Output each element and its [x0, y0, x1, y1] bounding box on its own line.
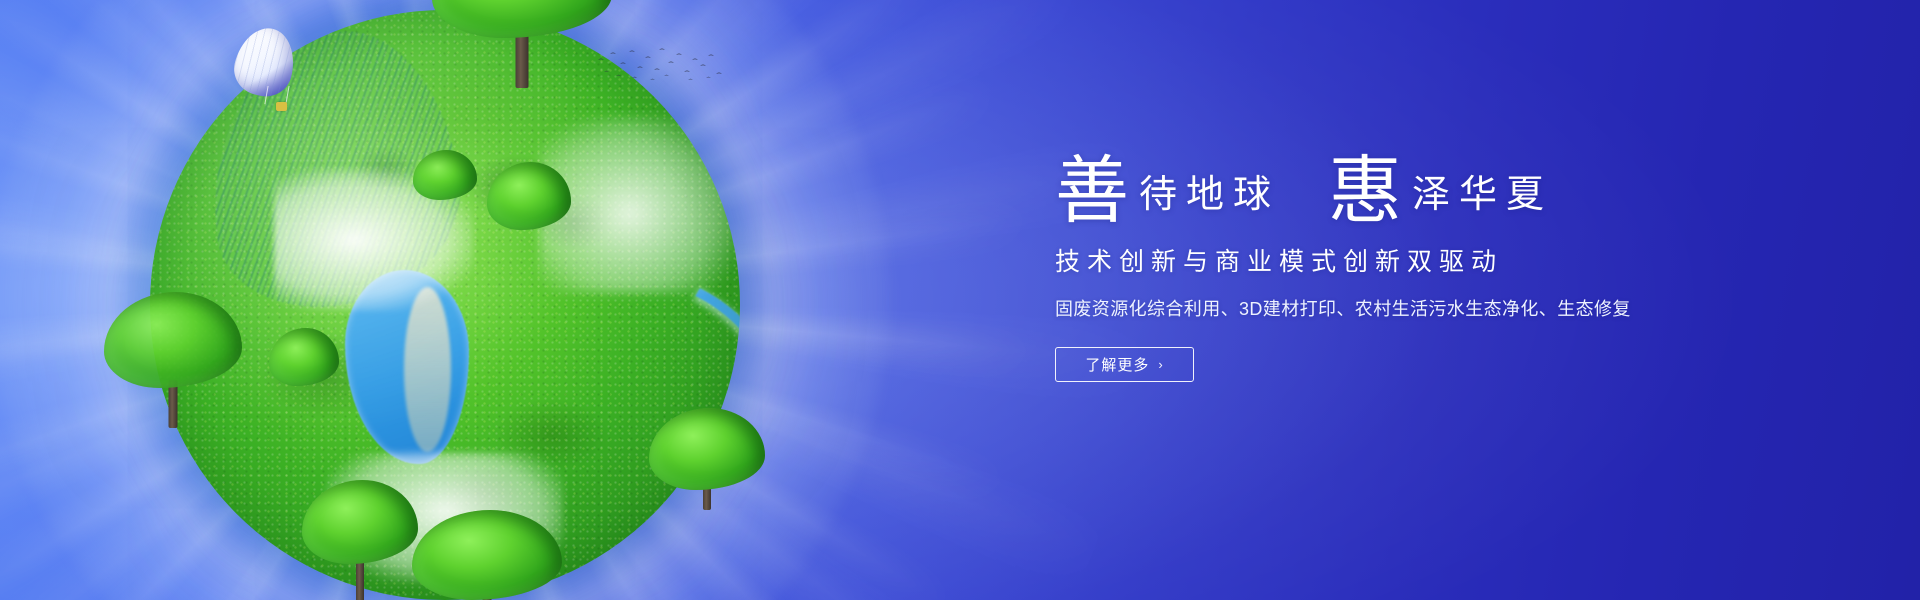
learn-more-label: 了解更多	[1085, 354, 1149, 375]
headline-char-shan: 善	[1055, 159, 1129, 226]
balloon-stripes	[229, 22, 302, 102]
hero-banner: 善 待地球 惠 泽华夏 技术创新与商业模式创新双驱动 固废资源化综合利用、3D建…	[0, 0, 1920, 600]
page-subtitle: 技术创新与商业模式创新双驱动	[1055, 242, 1755, 278]
hero-content: 善 待地球 惠 泽华夏 技术创新与商业模式创新双驱动 固废资源化综合利用、3D建…	[1055, 140, 1755, 382]
birds-flock-icon	[596, 46, 726, 88]
learn-more-button[interactable]: 了解更多 ›	[1055, 347, 1194, 382]
balloon-basket	[276, 102, 287, 111]
headline-word-zehuaxia: 泽华夏	[1402, 176, 1553, 226]
hot-air-balloon-icon	[236, 28, 298, 124]
headline-char-hui: 惠	[1328, 159, 1402, 226]
page-title: 善 待地球 惠 泽华夏	[1055, 140, 1755, 226]
page-tagline: 固废资源化综合利用、3D建材打印、农村生活污水生态净化、生态修复	[1055, 295, 1755, 321]
chevron-right-icon: ›	[1158, 357, 1163, 372]
headline-word-daidiqiu: 待地球	[1129, 176, 1280, 226]
birds-svg	[596, 46, 726, 88]
